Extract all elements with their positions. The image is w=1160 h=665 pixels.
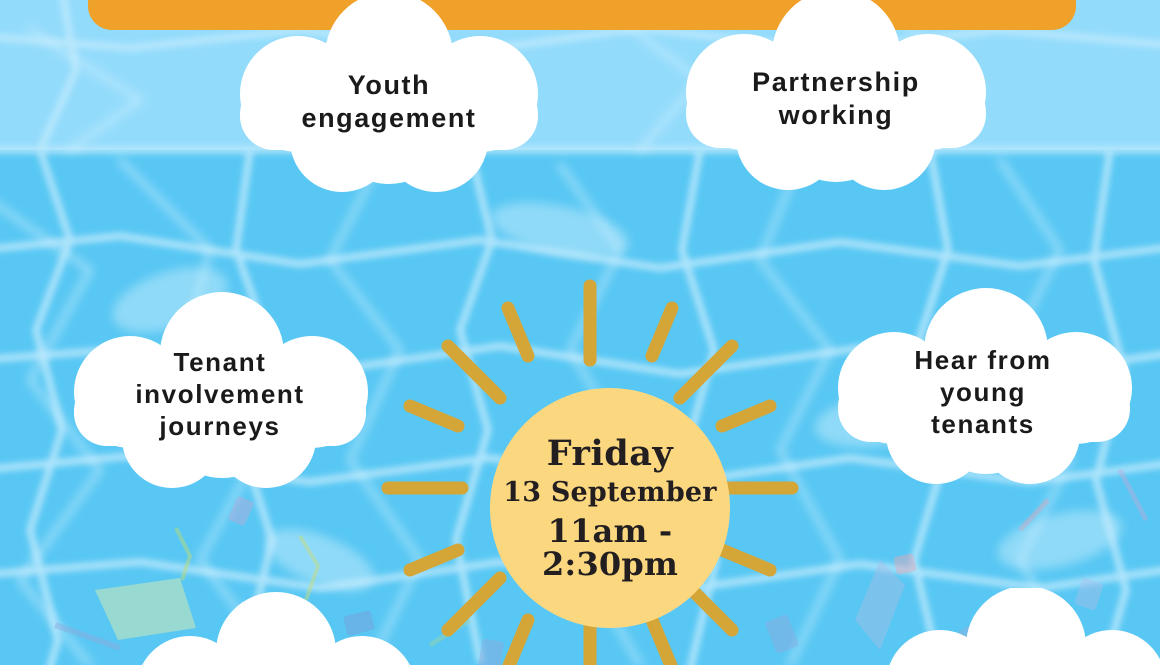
cloud-bottom-left — [110, 592, 440, 665]
event-day: Friday — [547, 436, 673, 473]
cloud-youth-engagement: Youth engagement — [214, 0, 564, 205]
cloud-label — [110, 592, 440, 665]
cloud-hear-from-young-tenants: Hear from young tenants — [808, 288, 1158, 500]
event-date: 13 September — [503, 479, 716, 507]
cloud-label: Partnership working — [662, 0, 1010, 200]
cloud-label: Hear from young tenants — [808, 288, 1158, 500]
cloud-label: Youth engagement — [214, 0, 564, 205]
cloud-label: Tenant involvement journeys — [46, 290, 394, 502]
cloud-partnership-working: Partnership working — [662, 0, 1010, 200]
poster-canvas: Friday 13 September 11am - 2:30pm Youth … — [0, 0, 1160, 665]
cloud-tenant-involvement-journeys: Tenant involvement journeys — [46, 290, 394, 502]
sun-disc: Friday 13 September 11am - 2:30pm — [490, 388, 730, 628]
event-time: 11am - 2:30pm — [490, 515, 730, 580]
cloud-bottom-right — [858, 588, 1160, 665]
cloud-label — [858, 588, 1160, 665]
